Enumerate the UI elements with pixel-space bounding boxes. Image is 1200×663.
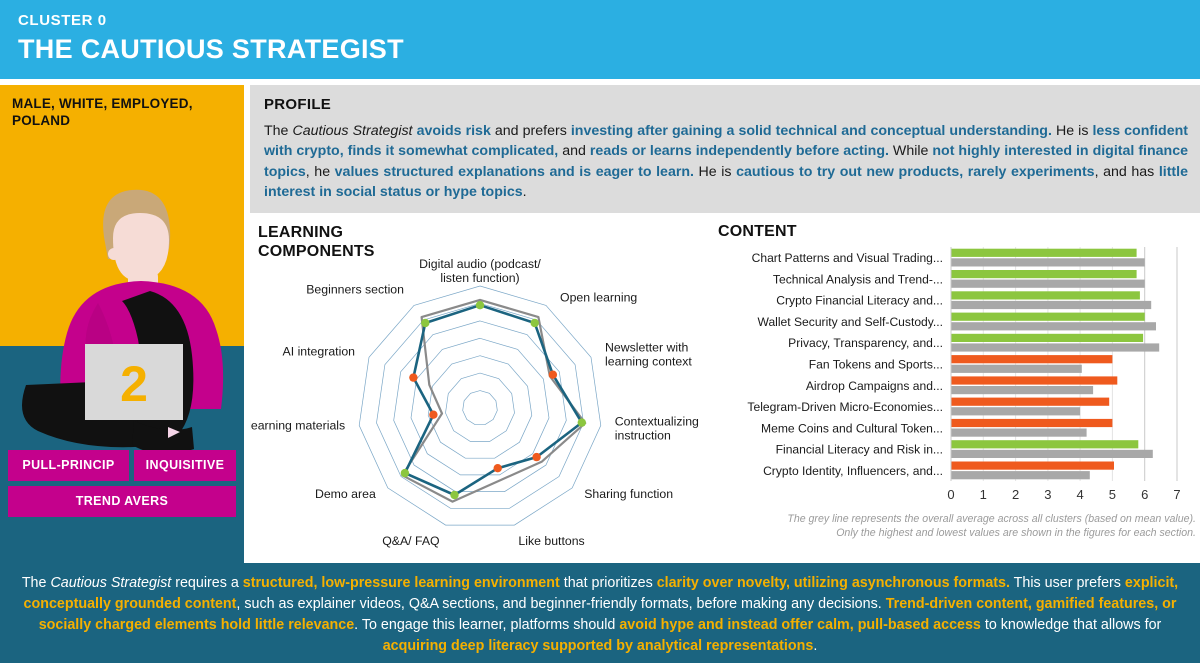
bar-average bbox=[951, 471, 1090, 479]
radar-axis-label: Q&A/ FAQ bbox=[382, 534, 439, 548]
learning-components-chart: LEARNING COMPONENTS Digital audio (podca… bbox=[250, 213, 715, 563]
face-shape bbox=[113, 213, 169, 281]
bar-category-label: Chart Patterns and Visual Trading... bbox=[752, 251, 943, 265]
x-axis-tick-label: 6 bbox=[1141, 487, 1148, 502]
x-axis-tick-label: 3 bbox=[1044, 487, 1051, 502]
radar-svg: Digital audio (podcast/listen function)O… bbox=[250, 213, 715, 563]
content-heading: CONTENT bbox=[718, 223, 797, 241]
bar-category-label: Crypto Financial Literacy and... bbox=[776, 294, 943, 308]
page-header: CLUSTER 0 THE CAUTIOUS STRATEGIST bbox=[0, 0, 1200, 79]
radar-marker-high bbox=[401, 469, 409, 477]
radar-marker-low bbox=[409, 373, 417, 381]
radar-marker-low bbox=[429, 411, 437, 419]
chart-footnote: The grey line represents the overall ave… bbox=[715, 512, 1199, 540]
bar-average bbox=[951, 280, 1145, 288]
radar-axis-label: AI integration bbox=[283, 344, 356, 358]
bar-average bbox=[951, 365, 1082, 373]
cluster-label: CLUSTER 0 bbox=[18, 12, 1200, 30]
profile-heading: PROFILE bbox=[264, 96, 1188, 113]
page-footer: The Cautious Strategist requires a struc… bbox=[0, 563, 1200, 663]
bar-cluster-low bbox=[951, 398, 1109, 406]
bar-average bbox=[951, 322, 1156, 330]
tag-pull-principle[interactable]: PULL-PRINCIP bbox=[8, 450, 129, 481]
bar-average bbox=[951, 407, 1080, 415]
radar-marker-high bbox=[578, 418, 586, 426]
radar-marker-high bbox=[476, 301, 484, 309]
radar-grid-ring bbox=[411, 338, 549, 475]
radar-axis-label: Beginners section bbox=[306, 282, 404, 296]
x-axis-tick-label: 4 bbox=[1076, 487, 1083, 502]
bar-cluster-high bbox=[951, 249, 1137, 257]
radar-axis-label: Open learning bbox=[560, 290, 637, 304]
radar-marker-low bbox=[494, 464, 502, 472]
bar-average bbox=[951, 429, 1087, 437]
footnote-line-2: Only the highest and lowest values are s… bbox=[715, 526, 1196, 540]
radar-series-polygon bbox=[405, 305, 582, 495]
x-axis-tick-label: 1 bbox=[980, 487, 987, 502]
radar-marker-low bbox=[549, 371, 557, 379]
bar-category-label: Technical Analysis and Trend-... bbox=[773, 272, 943, 286]
bar-category-label: Financial Literacy and Risk in... bbox=[776, 443, 943, 457]
bar-cluster-low bbox=[951, 376, 1117, 384]
x-axis-tick-label: 0 bbox=[947, 487, 954, 502]
bar-cluster-high bbox=[951, 440, 1138, 448]
bar-average bbox=[951, 301, 1151, 309]
radar-axis-label: Contextualizinginstruction bbox=[615, 414, 699, 442]
trait-tag-group: PULL-PRINCIP INQUISITIVE TREND AVERS bbox=[8, 450, 236, 522]
footer-summary: The Cautious Strategist requires a struc… bbox=[18, 573, 1182, 657]
bar-category-label: Crypto Identity, Influencers, and... bbox=[763, 464, 943, 478]
radar-grid-ring bbox=[446, 373, 515, 441]
bar-svg: 01234567Chart Patterns and Visual Tradin… bbox=[715, 243, 1199, 515]
x-axis-tick-label: 7 bbox=[1173, 487, 1180, 502]
bar-cluster-high bbox=[951, 313, 1145, 321]
radar-axis-label: Sharing function bbox=[584, 487, 673, 501]
bar-cluster-low bbox=[951, 355, 1112, 363]
tag-row-2: TREND AVERS bbox=[8, 486, 236, 517]
bar-category-label: Privacy, Transparency, and... bbox=[788, 336, 943, 350]
bar-category-label: Telegram-Driven Micro-Economies... bbox=[747, 400, 943, 414]
laptop-number: 2 bbox=[120, 356, 148, 412]
radar-axis-label: Newsletter withlearning context bbox=[605, 340, 692, 368]
radar-grid-ring bbox=[463, 391, 498, 425]
x-axis-tick-label: 2 bbox=[1012, 487, 1019, 502]
bar-average bbox=[951, 386, 1093, 394]
bar-cluster-low bbox=[951, 419, 1112, 427]
profile-description: The Cautious Strategist avoids risk and … bbox=[264, 121, 1188, 203]
bar-average bbox=[951, 450, 1153, 458]
content-chart: CONTENT 01234567Chart Patterns and Visua… bbox=[715, 213, 1200, 563]
radar-axis-label: Like buttons bbox=[518, 534, 584, 548]
radar-marker-high bbox=[531, 319, 539, 327]
bar-cluster-low bbox=[951, 462, 1114, 470]
tag-row-1: PULL-PRINCIP INQUISITIVE bbox=[8, 450, 236, 481]
persona-sidebar: MALE, WHITE, EMPLOYED, POLAND 2 PULL-PRI… bbox=[0, 85, 244, 563]
tag-inquisitive[interactable]: INQUISITIVE bbox=[134, 450, 236, 481]
bar-category-label: Wallet Security and Self-Custody... bbox=[757, 315, 943, 329]
charts-area: LEARNING COMPONENTS Digital audio (podca… bbox=[250, 213, 1200, 563]
profile-panel: PROFILE The Cautious Strategist avoids r… bbox=[250, 85, 1200, 213]
demographics-label: MALE, WHITE, EMPLOYED, POLAND bbox=[12, 95, 236, 129]
cluster-title: THE CAUTIOUS STRATEGIST bbox=[18, 33, 1200, 65]
bar-category-label: Airdrop Campaigns and... bbox=[806, 379, 943, 393]
radar-marker-high bbox=[450, 491, 458, 499]
tag-trend-averse[interactable]: TREND AVERS bbox=[8, 486, 236, 517]
bar-average bbox=[951, 258, 1145, 266]
bar-cluster-high bbox=[951, 334, 1143, 342]
bar-cluster-high bbox=[951, 270, 1137, 278]
ear-shape bbox=[108, 248, 120, 260]
bar-category-label: Fan Tokens and Sports... bbox=[809, 358, 943, 372]
radar-marker-low bbox=[532, 453, 540, 461]
radar-axis-label: Demo area bbox=[315, 487, 376, 501]
footnote-line-1: The grey line represents the overall ave… bbox=[715, 512, 1196, 526]
x-axis-tick-label: 5 bbox=[1109, 487, 1116, 502]
radar-axis-label: Paid learning materials bbox=[250, 418, 345, 432]
radar-grid-ring bbox=[428, 356, 532, 459]
bar-category-label: Meme Coins and Cultural Token... bbox=[761, 421, 943, 435]
bar-average bbox=[951, 343, 1159, 351]
radar-marker-high bbox=[421, 319, 429, 327]
bar-cluster-high bbox=[951, 291, 1140, 299]
radar-axis-label: Digital audio (podcast/listen function) bbox=[419, 257, 541, 285]
